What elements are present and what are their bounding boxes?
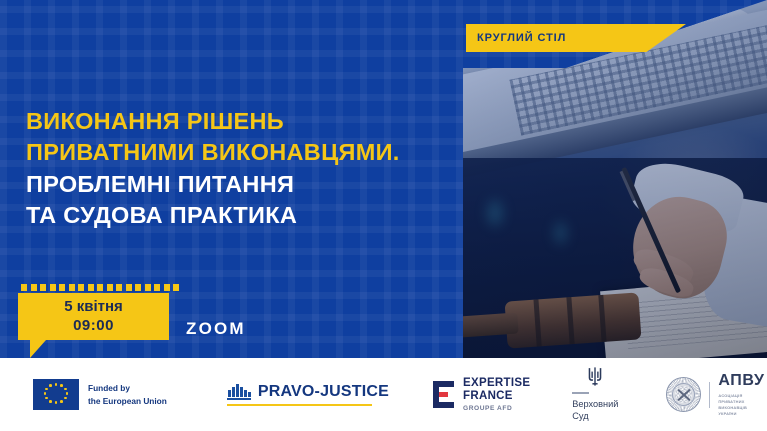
tab-square — [21, 284, 27, 291]
apvu-subtitle: АСОЦІАЦІЯ ПРИВАТНИХ ВИКОНАВЦІВ УКРАЇНИ — [718, 393, 764, 416]
bubble-tail — [30, 340, 46, 358]
ukraine-trident-icon — [586, 366, 604, 387]
title-line-4: ТА СУДОВА ПРАКТИКА — [26, 200, 456, 231]
partner-logo-bar: Funded by the European Union PRAVO-JUSTI… — [0, 358, 767, 431]
eu-funding-text: Funded by the European Union — [88, 382, 167, 406]
tab-square — [173, 284, 179, 291]
tab-square — [145, 284, 151, 291]
expertise-france-icon — [433, 381, 455, 408]
apvu-name: АПВУ — [718, 372, 764, 390]
title-line-3: ПРОБЛЕМНІ ПИТАННЯ — [26, 169, 456, 200]
date-bubble: 5 квітня 09:00 — [18, 293, 169, 340]
tab-square — [164, 284, 170, 291]
logo-apvu: АПВУ АСОЦІАЦІЯ ПРИВАТНИХ ВИКОНАВЦІВ УКРА… — [666, 372, 764, 416]
ef-line-2: FRANCE — [463, 390, 530, 403]
apvu-seal-icon — [666, 377, 701, 412]
eu-text-line-2: the European Union — [88, 395, 167, 407]
pravo-justice-underline — [227, 404, 372, 407]
eu-text-line-1: Funded by — [88, 382, 167, 394]
tab-square — [69, 284, 75, 291]
tab-square — [40, 284, 46, 291]
badge-perforation-tabs — [21, 284, 179, 291]
apvu-sub-3: УКРАЇНИ — [718, 411, 764, 417]
logo-pravo-justice: PRAVO-JUSTICE — [227, 383, 389, 407]
date-badge: 5 квітня 09:00 — [18, 284, 179, 340]
supreme-court-text: Верховний Суд — [572, 398, 618, 423]
supreme-court-divider — [572, 392, 589, 393]
apvu-sub-2: ПРИВАТНИХ ВИКОНАВЦІВ — [718, 399, 764, 411]
tab-square — [107, 284, 113, 291]
courthouse-icon — [227, 383, 251, 400]
title-line-1: ВИКОНАННЯ РІШЕНЬ — [26, 106, 456, 137]
logo-supreme-court: Верховний Суд — [572, 366, 618, 422]
page-title: ВИКОНАННЯ РІШЕНЬ ПРИВАТНИМИ ВИКОНАВЦЯМИ.… — [26, 106, 456, 231]
event-time: 09:00 — [73, 317, 114, 336]
tab-square — [50, 284, 56, 291]
tab-square — [116, 284, 122, 291]
event-poster: КРУГЛИЙ СТІЛ ВИКОНАННЯ РІШЕНЬ ПРИВАТНИМИ… — [0, 0, 767, 431]
tab-square — [154, 284, 160, 291]
expertise-france-text: EXPERTISE FRANCE GROUPE AFD — [463, 377, 530, 413]
event-type-label: КРУГЛИЙ СТІЛ — [477, 32, 566, 44]
platform-label: ZOOM — [186, 319, 246, 339]
tab-square — [135, 284, 141, 291]
tab-square — [88, 284, 94, 291]
logo-european-union: Funded by the European Union — [33, 379, 167, 410]
logo-expertise-france: EXPERTISE FRANCE GROUPE AFD — [433, 377, 530, 413]
tab-square — [59, 284, 65, 291]
eu-flag-icon — [33, 379, 79, 410]
pravo-justice-name: PRAVO-JUSTICE — [258, 383, 389, 401]
event-date: 5 квітня — [64, 298, 123, 317]
tab-square — [78, 284, 84, 291]
apvu-divider — [709, 382, 710, 408]
title-line-2: ПРИВАТНИМИ ВИКОНАВЦЯМИ. — [26, 137, 456, 168]
ef-line-1: EXPERTISE — [463, 377, 530, 390]
apvu-text: АПВУ АСОЦІАЦІЯ ПРИВАТНИХ ВИКОНАВЦІВ УКРА… — [718, 372, 764, 416]
tab-square — [126, 284, 132, 291]
tab-square — [31, 284, 37, 291]
vs-line-2: Суд — [572, 410, 618, 422]
ef-line-3: GROUPE AFD — [463, 405, 530, 412]
tab-square — [97, 284, 103, 291]
vs-line-1: Верховний — [572, 398, 618, 410]
